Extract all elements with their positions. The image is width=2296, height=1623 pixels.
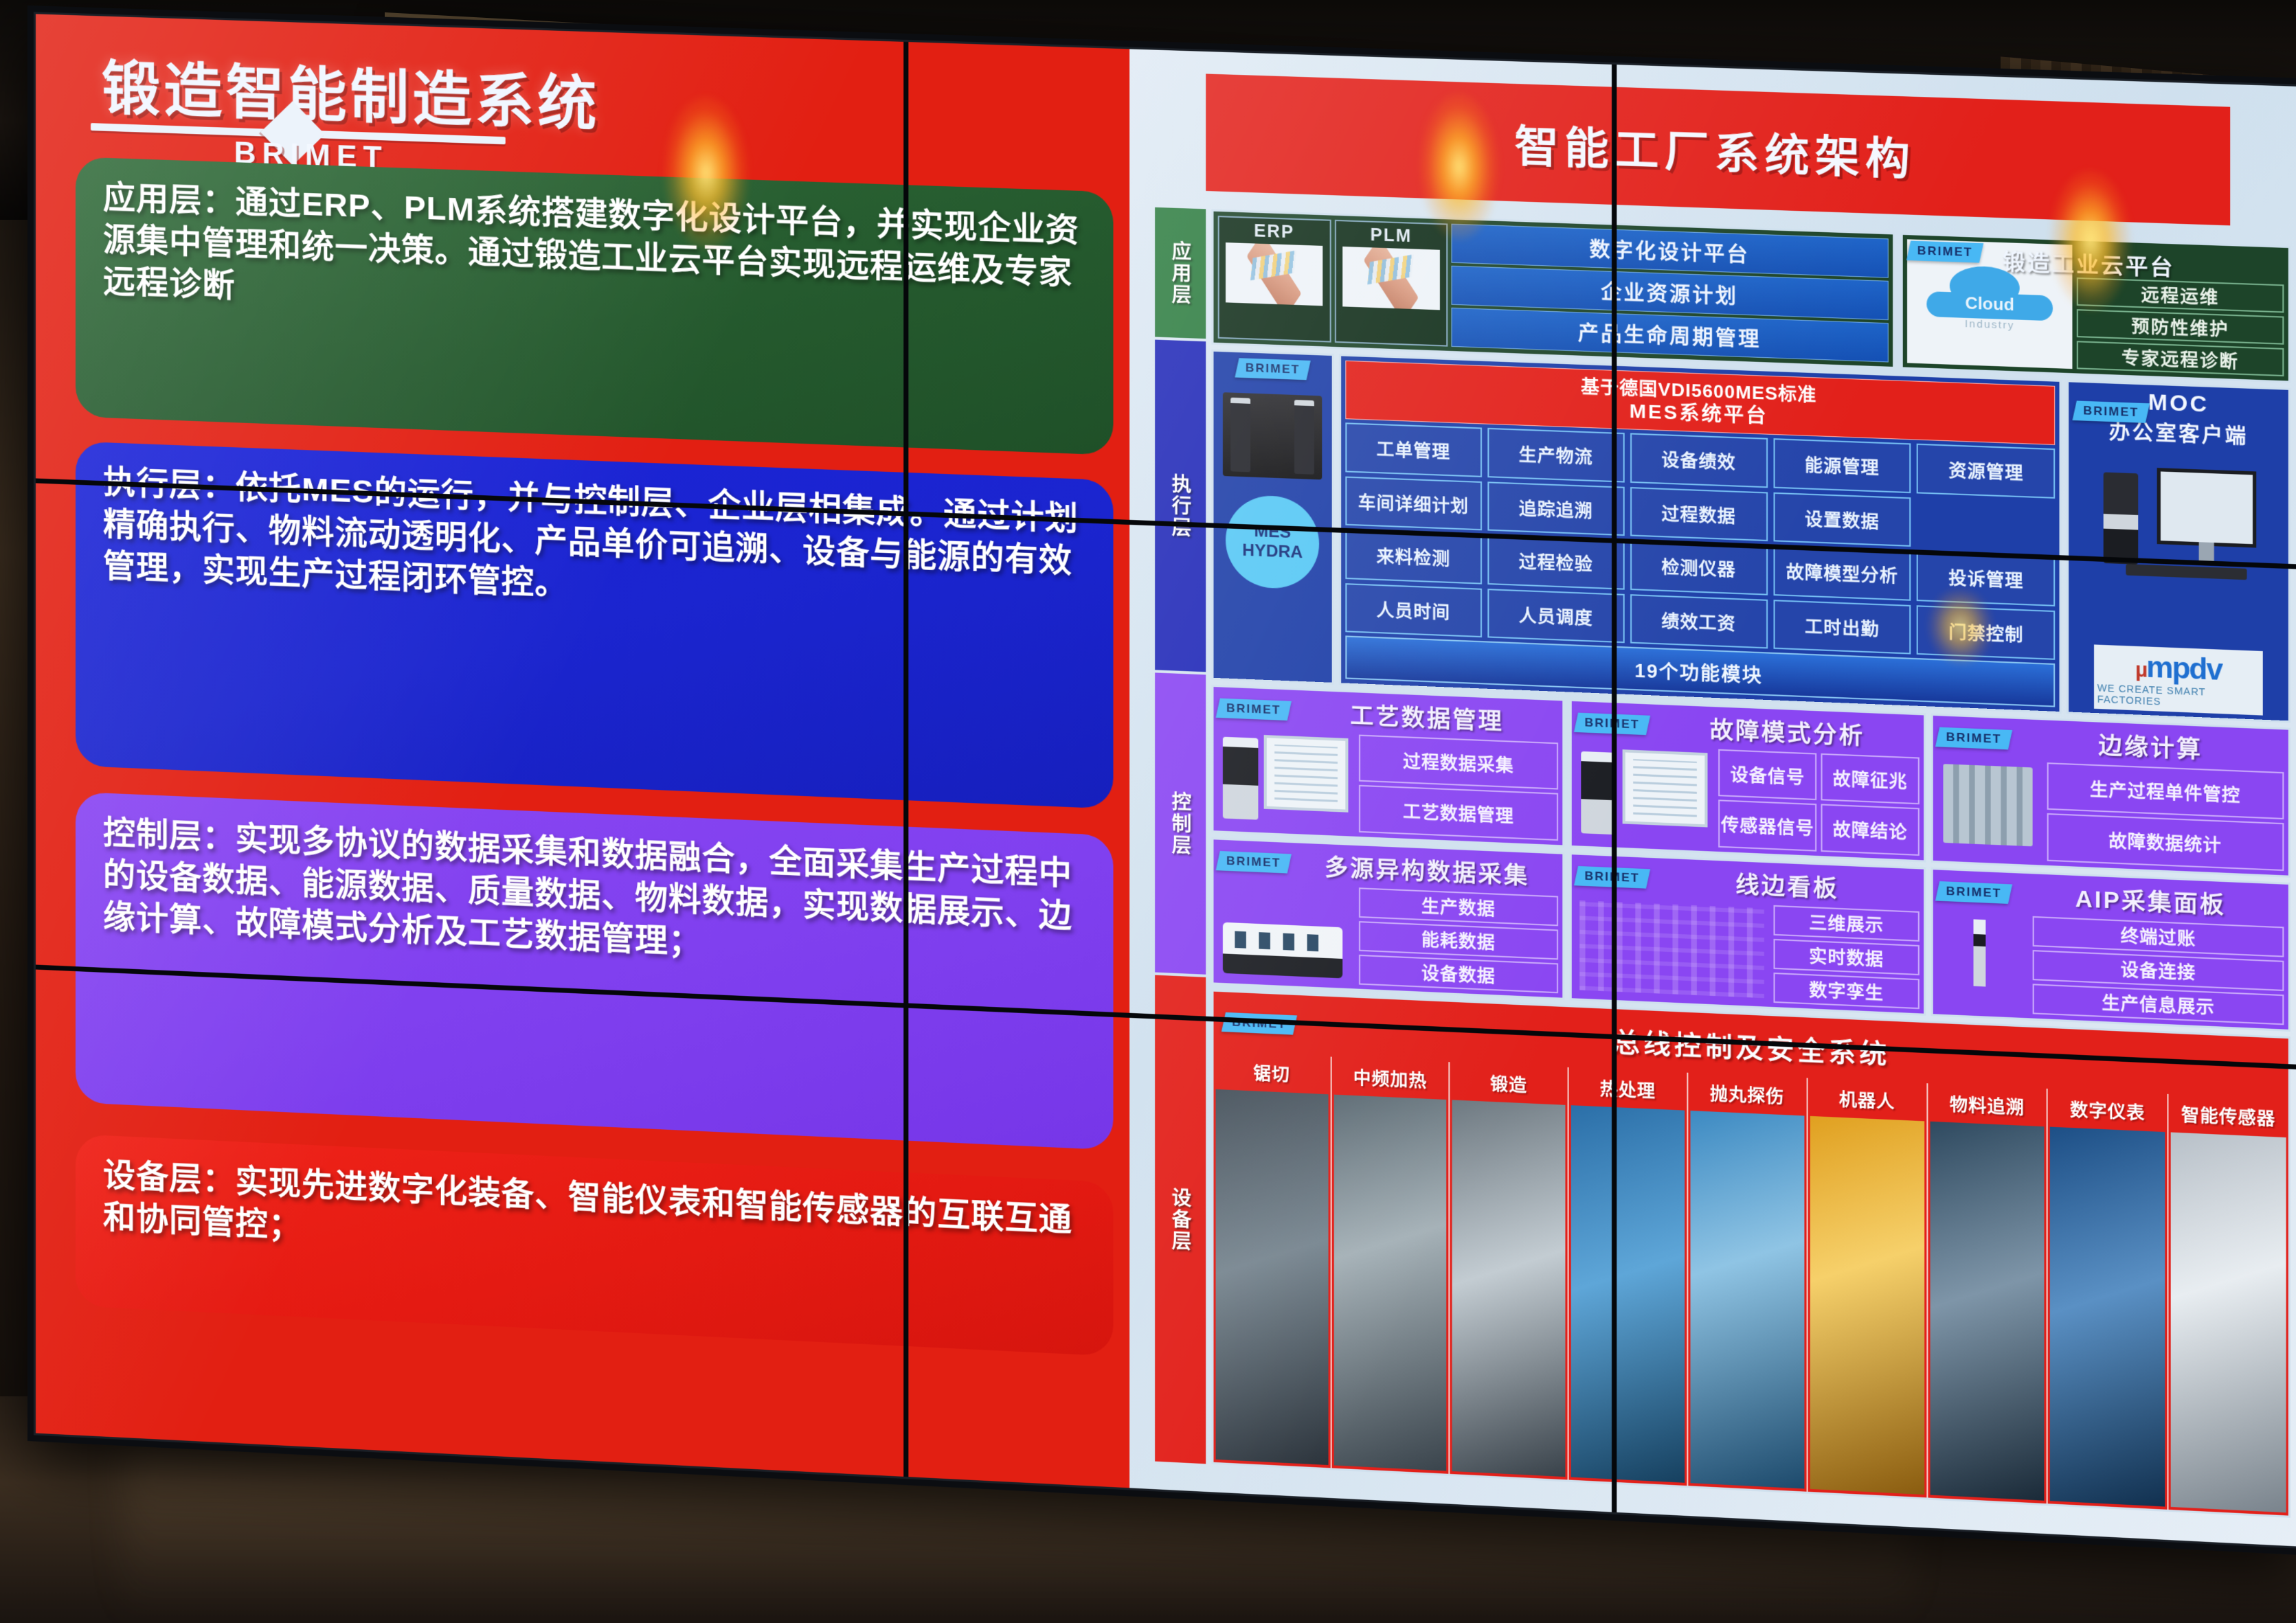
equipment-photo-material-tracing [1930,1122,2045,1501]
cloud-platform-title: 锻造工业云平台 [2003,244,2174,282]
control-item[interactable]: 能耗数据 [1359,921,1558,960]
plm-label: PLM [1371,225,1413,247]
brimet-tag-label: BRIMET [1946,730,2002,747]
mes-hydra-line1: MES [1254,522,1291,543]
equipment-cells: 锯切 中频加热 锻造 [1213,1052,2288,1516]
mes-platform-label: MES系统平台 [1630,399,1768,428]
control-item[interactable]: 故障结论 [1821,804,1920,856]
equipment-cell[interactable]: 机器人 [1806,1078,1926,1497]
mes-module[interactable]: 资源管理 [1917,444,2055,499]
brimet-tag-icon: BRIMET [1215,850,1291,873]
equipment-cell[interactable]: 中频加热 [1330,1057,1449,1474]
panel-pc-illustration [1576,743,1713,847]
aip-acquisition-panel-card: BRIMET AIP采集面板 终端过账 [1931,867,2290,1032]
cloud-item-preventive-maintenance[interactable]: 预防性维护 [2077,309,2284,345]
layer-label-application: 应用层 [1155,207,1206,339]
mpdv-name: mpdv [2146,650,2222,687]
card-application-layer: 应用层：通过ERP、PLM系统搭建数字化设计平台，并实现企业资源集中管理和统一决… [76,157,1113,455]
mes-module[interactable]: 工单管理 [1345,422,1482,477]
cloud-item-remote-ops[interactable]: 远程运维 [2077,277,2284,313]
brimet-tag-label: BRIMET [1584,716,1639,732]
equipment-label: 物料追溯 [1928,1083,2047,1126]
brimet-tag-icon: BRIMET [1215,699,1291,720]
brimet-tag-icon: BRIMET [1935,881,2012,904]
server-rack-icon [1223,392,1323,479]
layer-label-execution: 执行层 [1155,340,1206,672]
equipment-photo-heat-treatment [1571,1105,1685,1483]
mes-module[interactable]: 投诉管理 [1917,551,2055,606]
mpdv-vendor-logo: µmpdv WE CREATE SMART FACTORIES [2094,644,2262,715]
brimet-tag-label: BRIMET [1232,1015,1287,1032]
equipment-photo-robot [1810,1116,1924,1495]
mes-module[interactable]: 追踪追溯 [1487,481,1624,536]
line-side-kanban-card: BRIMET 线边看板 三维展示 [1569,852,1926,1016]
card-title: AIP采集面板 [2018,877,2284,922]
control-item[interactable]: 设备数据 [1359,955,1558,994]
mpdv-tagline: WE CREATE SMART FACTORIES [2097,682,2260,711]
plc-module-illustration [1937,758,2041,861]
card-title: 边缘计算 [2018,723,2284,768]
control-layer-row: BRIMET 工艺数据管理 过程数据采集 [1211,685,2291,1032]
control-item[interactable]: 传感器信号 [1719,800,1817,852]
right-slide-panel: 智能工厂系统架构 应用层 执行层 控制层 设备层 ERP [1129,41,2296,1555]
equipment-label: 中频加热 [1331,1057,1448,1100]
brimet-tag-icon: BRIMET [2073,400,2150,422]
mes-module-grid: 工单管理 生产物流 设备绩效 能源管理 资源管理 车间详细计划 追踪追溯 过程数… [1345,422,2056,660]
kanban-screen-illustration [1576,896,1768,1002]
moc-title: MOC [2148,389,2209,418]
equipment-label: 抛丸探伤 [1688,1073,1806,1116]
control-item[interactable]: 故障数据统计 [2047,813,2284,870]
equipment-label: 锻造 [1450,1062,1568,1105]
process-data-management-card: BRIMET 工艺数据管理 过程数据采集 [1211,685,1564,847]
mes-module[interactable]: 绩效工资 [1630,594,1768,649]
brimet-tag-label: BRIMET [1226,854,1281,870]
mes-server-panel: BRIMET MES HYDRA [1211,350,1333,685]
control-item[interactable]: 故障征兆 [1821,753,1920,805]
card-title: 工艺数据管理 [1296,694,1558,738]
control-item[interactable]: 数字孪生 [1774,973,1920,1009]
equipment-photo-sawing [1215,1089,1328,1465]
equipment-label: 锯切 [1213,1052,1330,1094]
control-item[interactable]: 设备信号 [1719,749,1817,801]
equipment-cell[interactable]: 锻造 [1449,1062,1568,1479]
video-wall-display[interactable]: 锻造智能制造系统 BRIMET 应用层：通过ERP、PLM系统搭建数字化设计平台… [27,5,2296,1556]
mes-module[interactable]: 工时出勤 [1773,600,1911,655]
equipment-cell[interactable]: 热处理 [1568,1067,1687,1486]
brimet-tag-icon: BRIMET [1235,358,1310,380]
card-control-layer: 控制层：实现多协议的数据采集和数据融合，全面采集生产过程中的设备数据、能源数据、… [76,792,1113,1150]
brimet-tag-icon: BRIMET [1935,727,2012,750]
equipment-photo-smart-sensor [2171,1133,2286,1513]
equipment-cell[interactable]: 抛丸探伤 [1687,1073,1806,1492]
erp-tile[interactable]: ERP [1217,216,1331,343]
architecture-title: 智能工厂系统架构 [1206,73,2230,225]
plm-tile[interactable]: PLM [1334,220,1448,347]
control-item[interactable]: 生产过程单件管控 [2047,762,2284,819]
equipment-cell[interactable]: 锯切 [1213,1052,1330,1468]
left-slide-panel: 锻造智能制造系统 BRIMET 应用层：通过ERP、PLM系统搭建数字化设计平台… [27,5,1129,1496]
equipment-label: 机器人 [1808,1078,1926,1121]
equipment-label: 热处理 [1569,1067,1687,1111]
fault-mode-analysis-card: BRIMET 故障模式分析 [1569,699,1926,862]
control-item[interactable]: 生产数据 [1359,887,1558,926]
mes-module[interactable]: 能源管理 [1773,438,1911,493]
mes-module[interactable]: 来料检测 [1345,530,1482,584]
equipment-cell[interactable]: 智能传感器 [2168,1094,2288,1516]
brimet-tag-icon: BRIMET [1574,865,1650,888]
erp-label: ERP [1254,221,1294,242]
control-item[interactable]: 工艺数据管理 [1359,785,1558,840]
workstation-icon [2101,466,2257,578]
mes-module[interactable]: 过程数据 [1630,487,1768,542]
equipment-cell[interactable]: 物料追溯 [1926,1083,2047,1503]
brimet-tag-label: BRIMET [1584,869,1639,885]
control-item[interactable]: 实时数据 [1774,939,1920,975]
cloud-sublabel: Industry [1965,317,2015,331]
layer-label-control: 控制层 [1155,672,1206,974]
brimet-tag-label: BRIMET [2084,404,2139,420]
execution-layer-row: BRIMET MES HYDRA 基于德国VDI5600MES标准 [1211,350,2291,723]
card-execution-layer: 执行层：依托MES的运行，并与控制层、企业层相集成。通过计划精确执行、物料流动透… [76,442,1113,809]
pc-tower-icon [2104,473,2138,565]
moc-office-client-panel: BRIMET MOC 办公室客户端 µmpdv [2067,380,2290,723]
equipment-photo-digital-instrument [2050,1127,2165,1507]
page-title: 锻造智能制造系统 [102,41,960,154]
control-item[interactable]: 三维展示 [1774,905,1920,941]
mes-hydra-line2: HYDRA [1242,541,1303,562]
erp-illustration-icon [1226,242,1323,306]
application-systems-group: ERP PLM 数字化设计平台 企业资源计划 产品生命周期管理 [1211,209,1895,369]
brimet-tag-icon: BRIMET [1222,1012,1297,1035]
layer-label-column: 应用层 执行层 控制层 设备层 [1155,207,1206,1464]
brimet-tag-label: BRIMET [1917,244,1973,260]
mes-module[interactable]: 人员时间 [1345,583,1482,637]
brimet-tag-icon: BRIMET [1574,713,1650,736]
monitor-icon [2157,468,2256,547]
mes-module[interactable]: 人员调度 [1487,589,1624,644]
equipment-label: 智能传感器 [2169,1094,2288,1137]
forging-cloud-platform-panel: BRIMET 锻造工业云平台 Cloud Industry 远程运维 [1901,233,2291,383]
mes-module[interactable]: 设备绩效 [1630,433,1768,487]
equipment-photo-induction-heating [1333,1095,1446,1471]
brimet-tag-label: BRIMET [1245,361,1300,377]
equipment-label: 数字仪表 [2048,1089,2168,1132]
application-bars: 数字化设计平台 企业资源计划 产品生命周期管理 [1452,224,1889,363]
mes-module[interactable]: 门禁控制 [1917,605,2055,660]
equipment-layer-row: BRIMET 总线控制及安全系统 锯切 中频加热 [1211,989,2291,1517]
architecture-diagram: 应用层 执行层 控制层 设备层 ERP [1155,207,2291,1518]
mes-module-placeholder [1917,497,2055,552]
card-title: 多源异构数据采集 [1296,847,1558,892]
gateway-device-illustration [1217,881,1353,984]
multi-source-data-acquisition-card: BRIMET 多源异构数据采集 生产数据 [1211,837,1564,1000]
mes-module[interactable]: 故障模型分析 [1773,545,1911,600]
control-item[interactable]: 过程数据采集 [1359,735,1558,790]
equipment-photo-shot-blasting [1690,1111,1804,1488]
mpdv-wordmark: µmpdv [2135,652,2222,685]
layer-label-equipment: 设备层 [1155,975,1206,1464]
edge-computing-card: BRIMET 边缘计算 生产过程单件管控 [1931,714,2290,878]
brimet-tag-label: BRIMET [1946,884,2002,900]
equipment-cell[interactable]: 数字仪表 [2047,1089,2168,1510]
mes-module[interactable]: 过程检验 [1487,535,1624,589]
equipment-photo-forging [1452,1100,1566,1477]
mes-module[interactable]: 生产物流 [1487,428,1624,482]
card-title: 线边看板 [1655,862,1919,907]
control-item[interactable]: 生产信息展示 [2033,984,2284,1025]
mes-platform-panel: 基于德国VDI5600MES标准 MES系统平台 工单管理 生产物流 设备绩效 … [1339,354,2062,714]
cloud-label: Cloud [1965,294,2014,315]
brimet-tag-icon: BRIMET [1906,241,1983,263]
panel-pc-illustration [1217,729,1353,832]
mes-module[interactable]: 车间详细计划 [1345,476,1482,530]
mes-module[interactable]: 检测仪器 [1630,541,1768,595]
mes-hydra-logo: MES HYDRA [1226,495,1319,590]
terminal-totem-illustration [1937,911,2027,1014]
card-equipment-layer: 设备层：实现先进数字化装备、智能仪表和智能传感器的互联互通和协同管控； [76,1134,1113,1356]
plm-illustration-icon [1342,247,1440,310]
cloud-item-expert-remote-diagnosis[interactable]: 专家远程诊断 [2077,341,2284,376]
mes-module[interactable]: 设置数据 [1773,492,1911,547]
card-title: 故障模式分析 [1655,709,1919,753]
keyboard-icon [2126,564,2247,580]
brimet-tag-label: BRIMET [1226,701,1281,718]
